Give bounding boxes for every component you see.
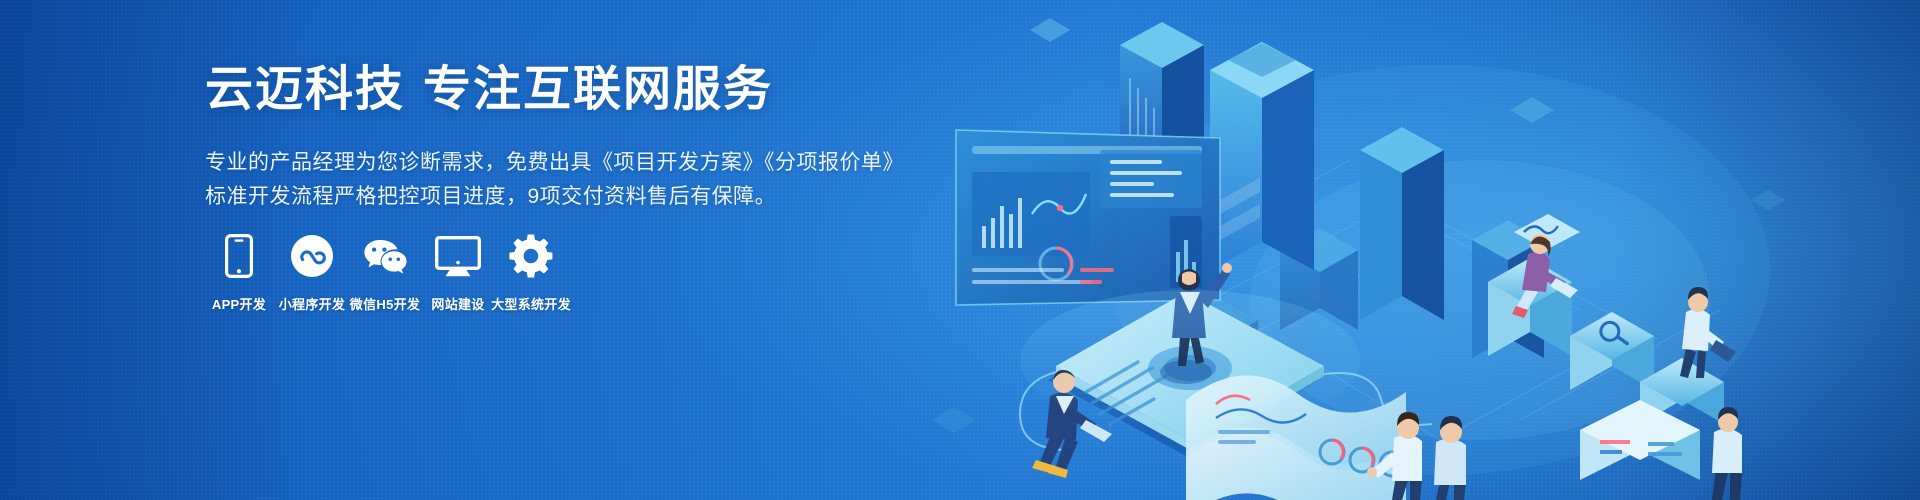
wechat-icon <box>361 232 409 278</box>
hero-copy-block: 云迈科技专注互联网服务 专业的产品经理为您诊断需求，免费出具《项目开发方案》《分… <box>205 66 904 214</box>
service-item-website[interactable]: 网站建设 <box>422 232 494 313</box>
hero-banner: 云迈科技专注互联网服务 专业的产品经理为您诊断需求，免费出具《项目开发方案》《分… <box>0 0 1920 500</box>
title-part-2: 专注互联网服务 <box>423 63 773 116</box>
mini-program-icon <box>290 232 334 278</box>
desktop-monitor-icon <box>435 232 481 278</box>
service-label-miniprogram: 小程序开发 <box>279 294 346 313</box>
service-icon-list: APP开发 小程序开发 <box>203 232 568 313</box>
subtitle-line-2: 标准开发流程严格把控项目进度，9项交付资料售后有保障。 <box>205 180 904 214</box>
hero-subtitle: 专业的产品经理为您诊断需求，免费出具《项目开发方案》《分项报价单》 标准开发流程… <box>205 146 904 214</box>
service-item-app[interactable]: APP开发 <box>203 232 275 313</box>
isometric-tech-city-illustration <box>880 0 1920 500</box>
service-item-miniprogram[interactable]: 小程序开发 <box>276 232 348 313</box>
service-item-system[interactable]: 大型系统开发 <box>495 232 567 313</box>
gear-icon <box>509 232 553 278</box>
mobile-phone-icon <box>225 232 253 278</box>
page-title: 云迈科技专注互联网服务 <box>205 66 904 114</box>
title-part-1: 云迈科技 <box>205 63 405 116</box>
service-label-app: APP开发 <box>212 294 266 313</box>
subtitle-line-1: 专业的产品经理为您诊断需求，免费出具《项目开发方案》《分项报价单》 <box>205 146 904 180</box>
service-label-system: 大型系统开发 <box>491 294 571 313</box>
service-item-wechat[interactable]: 微信H5开发 <box>349 232 421 313</box>
service-label-wechat: 微信H5开发 <box>350 294 420 313</box>
service-label-website: 网站建设 <box>431 294 484 313</box>
